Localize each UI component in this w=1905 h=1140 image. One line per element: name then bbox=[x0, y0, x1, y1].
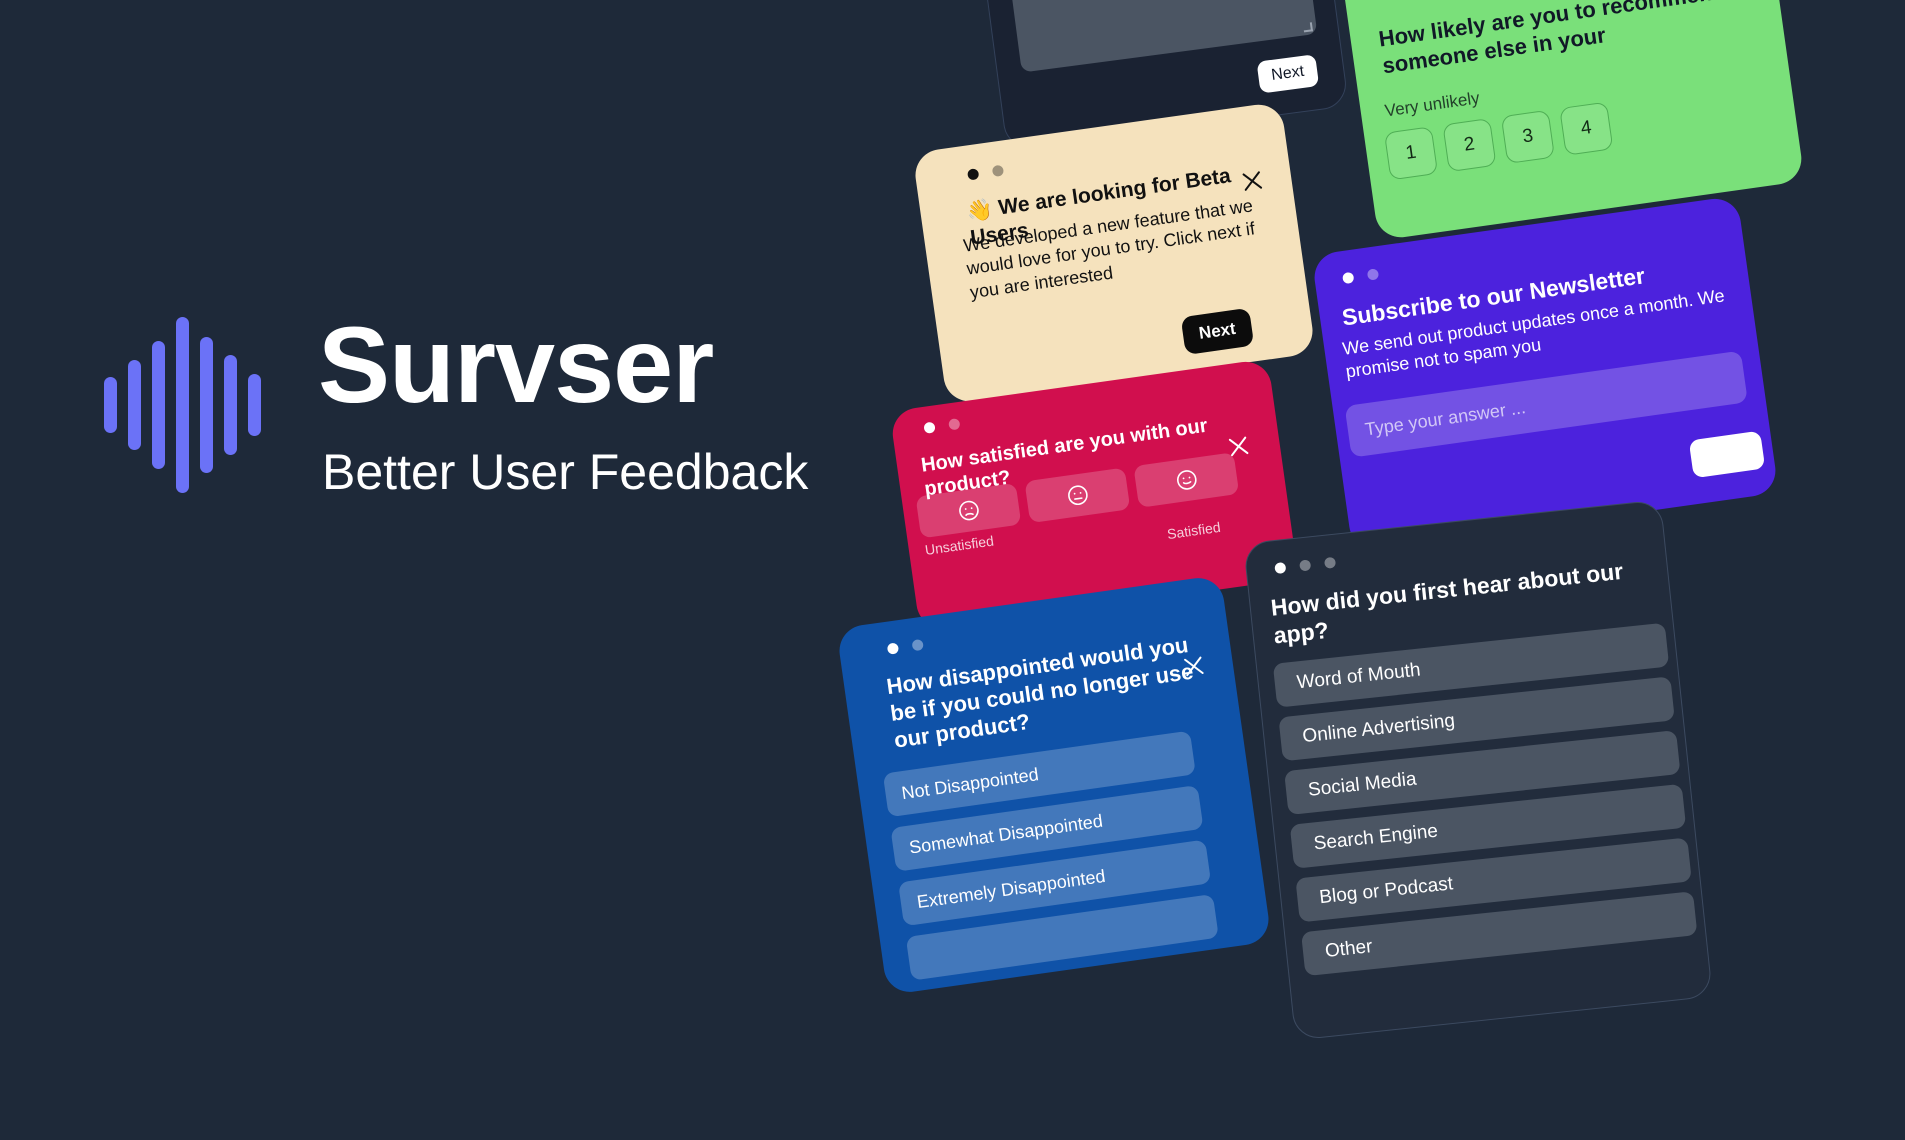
disappointed-options: Not Disappointed Somewhat Disappointed E… bbox=[883, 731, 1219, 981]
resize-handle-icon[interactable] bbox=[1303, 22, 1313, 32]
next-button[interactable]: Next bbox=[1257, 54, 1320, 93]
wave-bar bbox=[200, 337, 213, 473]
nps-card-title: How likely are you to recommend someone … bbox=[1377, 0, 1781, 80]
step-dot bbox=[1299, 559, 1311, 571]
nps-survey-card: How likely are you to recommend someone … bbox=[1341, 0, 1804, 241]
close-icon[interactable] bbox=[1179, 652, 1208, 681]
step-dots bbox=[1274, 557, 1336, 574]
step-dot-active bbox=[923, 422, 935, 434]
step-dot-active bbox=[1342, 272, 1354, 284]
hero-banner: Survser Better User Feedback Next 👋 We a… bbox=[0, 0, 1905, 1140]
brand-block: Survser Better User Feedback bbox=[95, 275, 875, 535]
step-dot-active bbox=[1274, 562, 1286, 574]
beta-users-card: 👋 We are looking for Beta Users We devel… bbox=[912, 101, 1316, 404]
step-dots bbox=[967, 165, 1004, 181]
wave-bar bbox=[224, 355, 237, 455]
step-dot bbox=[948, 418, 960, 430]
step-dot-active bbox=[967, 168, 979, 180]
step-dot bbox=[1367, 268, 1379, 280]
step-dots bbox=[923, 418, 960, 434]
satisfaction-card: How satisfied are you with our product? … bbox=[889, 358, 1298, 631]
newsletter-card: Subscribe to our Newsletter We send out … bbox=[1311, 196, 1779, 553]
next-button[interactable]: Next bbox=[1181, 308, 1254, 355]
source-survey-card: How did you first hear about our app? Wo… bbox=[1243, 499, 1713, 1040]
step-dots bbox=[1342, 268, 1379, 284]
source-options: Word of Mouth Online Advertising Social … bbox=[1257, 622, 1708, 978]
step-dot bbox=[1324, 557, 1336, 569]
wave-bar bbox=[248, 374, 261, 436]
step-dot bbox=[992, 165, 1004, 177]
close-icon[interactable] bbox=[1238, 166, 1267, 195]
satisfied-label: Satisfied bbox=[1166, 519, 1221, 542]
brand-tagline: Better User Feedback bbox=[322, 445, 808, 500]
step-dot bbox=[911, 639, 923, 651]
brand-name: Survser bbox=[318, 311, 808, 419]
step-dots bbox=[887, 639, 924, 655]
disappointed-card: How disappointed would you be if you cou… bbox=[836, 575, 1272, 995]
nps-option[interactable]: 4 bbox=[1559, 102, 1613, 156]
wave-bar bbox=[128, 360, 141, 450]
nps-scale-label: Very unlikely bbox=[1384, 88, 1481, 121]
sound-wave-icon bbox=[95, 305, 270, 505]
nps-option[interactable]: 3 bbox=[1501, 110, 1555, 164]
wave-bar bbox=[152, 341, 165, 469]
nps-option[interactable]: 2 bbox=[1442, 118, 1496, 172]
wave-bar bbox=[104, 377, 117, 433]
brand-text: Survser Better User Feedback bbox=[318, 311, 808, 500]
nps-option[interactable]: 1 bbox=[1384, 126, 1438, 180]
next-button[interactable] bbox=[1689, 431, 1766, 479]
wave-bar bbox=[176, 317, 189, 493]
step-dot-active bbox=[887, 642, 899, 654]
